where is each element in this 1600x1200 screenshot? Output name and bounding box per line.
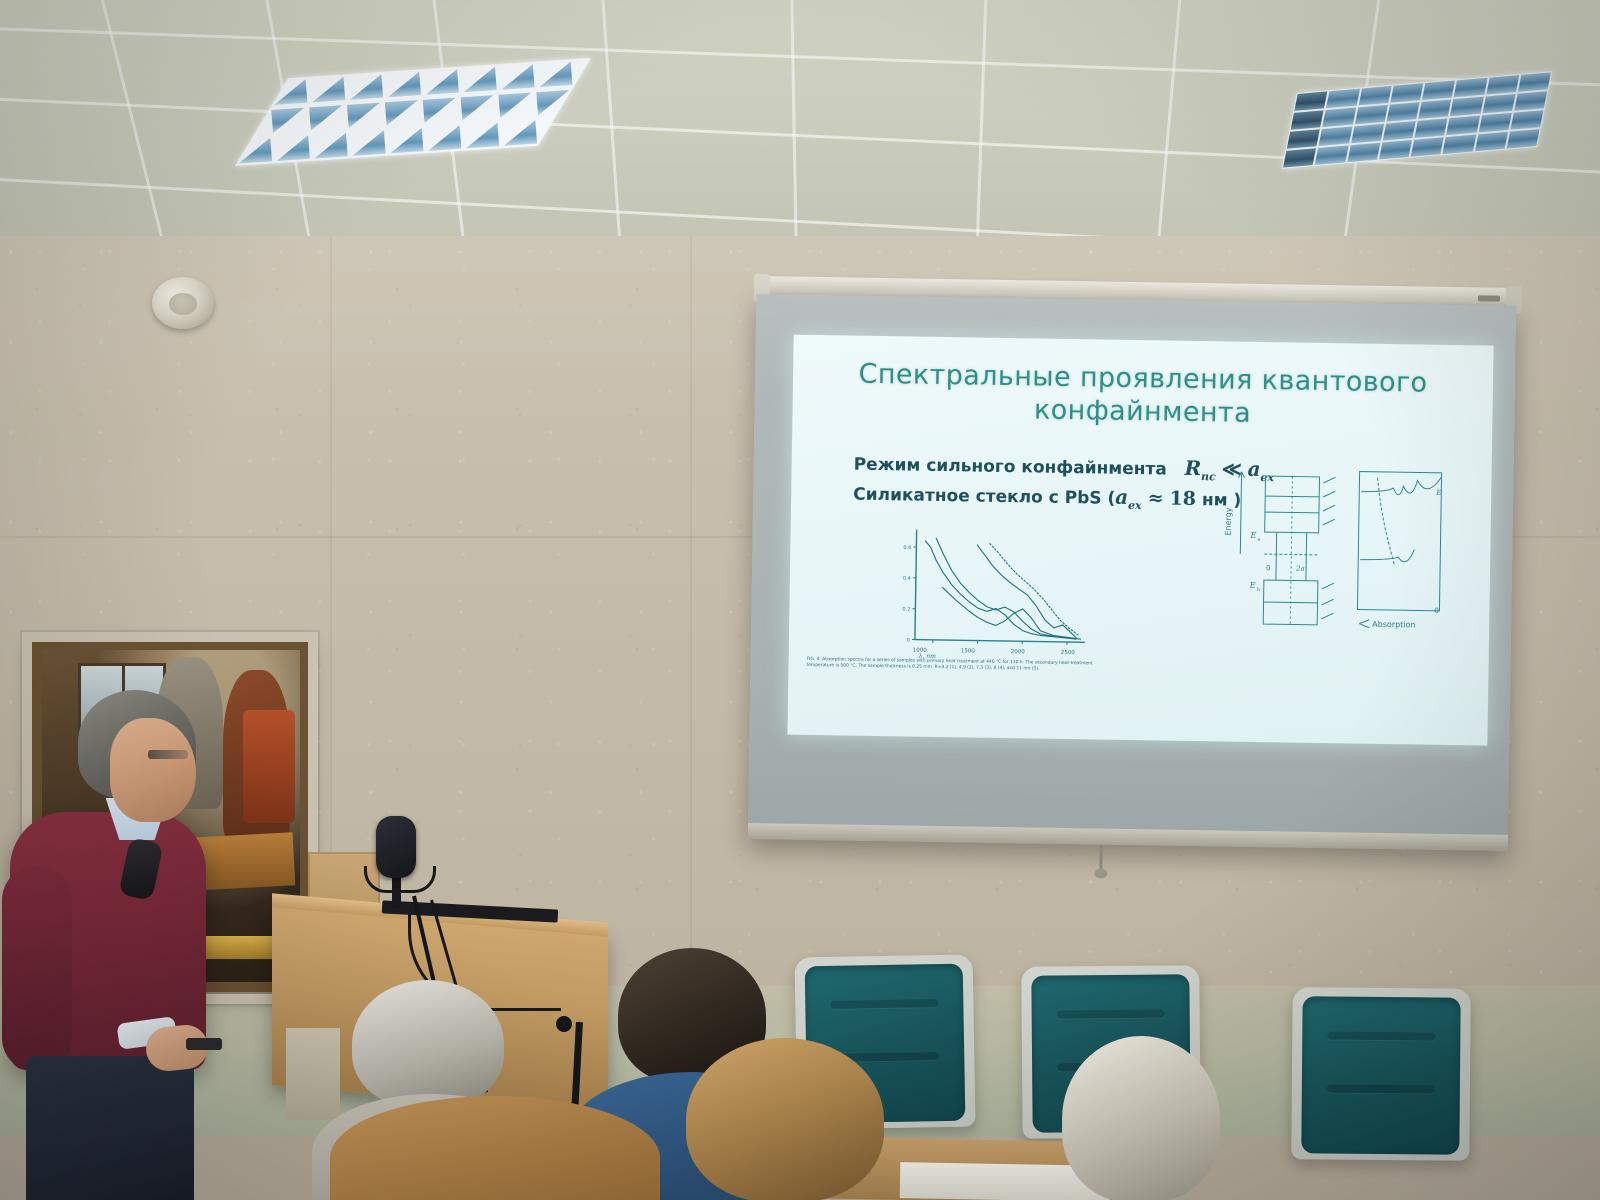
svg-text:0: 0 (1434, 607, 1439, 615)
absorption-spectra-chart: 00.20.40.6 (889, 521, 1091, 659)
presenter-arm (2, 866, 72, 1072)
ceiling-light-left (235, 58, 591, 166)
bullet-2-relation: ≈ (1148, 487, 1164, 509)
svg-text:0: 0 (1266, 564, 1271, 572)
x-tick-1: 1500 (961, 648, 975, 654)
svg-text:h: h (1257, 587, 1261, 593)
svg-text:Absorption: Absorption (1372, 620, 1415, 630)
presenter (0, 690, 230, 1200)
audience-member-head (686, 1038, 884, 1200)
svg-text:Energy: Energy (1224, 507, 1233, 535)
eyeglasses-icon (148, 750, 188, 759)
svg-text:0: 0 (907, 637, 910, 643)
chair-upholstery (1301, 996, 1460, 1154)
presentation-clicker-icon[interactable] (186, 1038, 222, 1050)
roller-label (1478, 295, 1500, 301)
svg-text:2a: 2a (1295, 565, 1305, 573)
svg-text:0.6: 0.6 (903, 545, 911, 551)
x-tick-3: 2500 (1061, 650, 1075, 656)
lectern-base (286, 1028, 340, 1120)
svg-text:E: E (1249, 581, 1256, 590)
screen-pull-cord[interactable] (1099, 845, 1102, 871)
slide-title: Спектральные проявления квантового конфа… (832, 357, 1453, 433)
x-tick-2: 2000 (1011, 649, 1025, 655)
microphone-boom-joint (556, 1016, 572, 1032)
microphone-icon[interactable] (376, 816, 416, 878)
audience-member-head (1062, 1036, 1220, 1200)
bullet-2-value: 18 (1169, 488, 1196, 510)
energy-level-diagram: Energy E e E h 0 2a Absorption E 0 (1209, 461, 1447, 635)
svg-text:0.4: 0.4 (903, 576, 911, 582)
ceiling-light-right (1282, 71, 1552, 168)
svg-text:e: e (1257, 537, 1260, 543)
slide-bullet-2: Силикатное стекло с PbS (aex ≈ 18 нм ) (853, 481, 1241, 514)
bullet-2-var: aex (1115, 485, 1142, 509)
bullet-2-text: Силикатное стекло с PbS ( (853, 485, 1115, 509)
lecture-hall-photo: Спектральные проявления квантового конфа… (0, 0, 1600, 1200)
ceiling (0, 0, 1600, 248)
svg-text:E: E (1435, 489, 1441, 497)
projected-slide: Спектральные проявления квантового конфа… (787, 335, 1493, 746)
presenter-trousers (26, 1056, 194, 1200)
svg-text:E: E (1250, 531, 1257, 540)
audience-chair[interactable] (1291, 987, 1470, 1161)
smoke-detector-icon (152, 277, 214, 329)
projection-screen[interactable]: Спектральные проявления квантового конфа… (748, 294, 1516, 851)
bullet-1-text: Режим сильного конфайнмента (854, 455, 1167, 480)
audience-member-head (352, 980, 504, 1108)
svg-text:0.2: 0.2 (902, 607, 910, 613)
figure-caption: FIG. 4. Absorption spectra for a series … (806, 657, 1106, 674)
presenter-face (110, 718, 196, 822)
